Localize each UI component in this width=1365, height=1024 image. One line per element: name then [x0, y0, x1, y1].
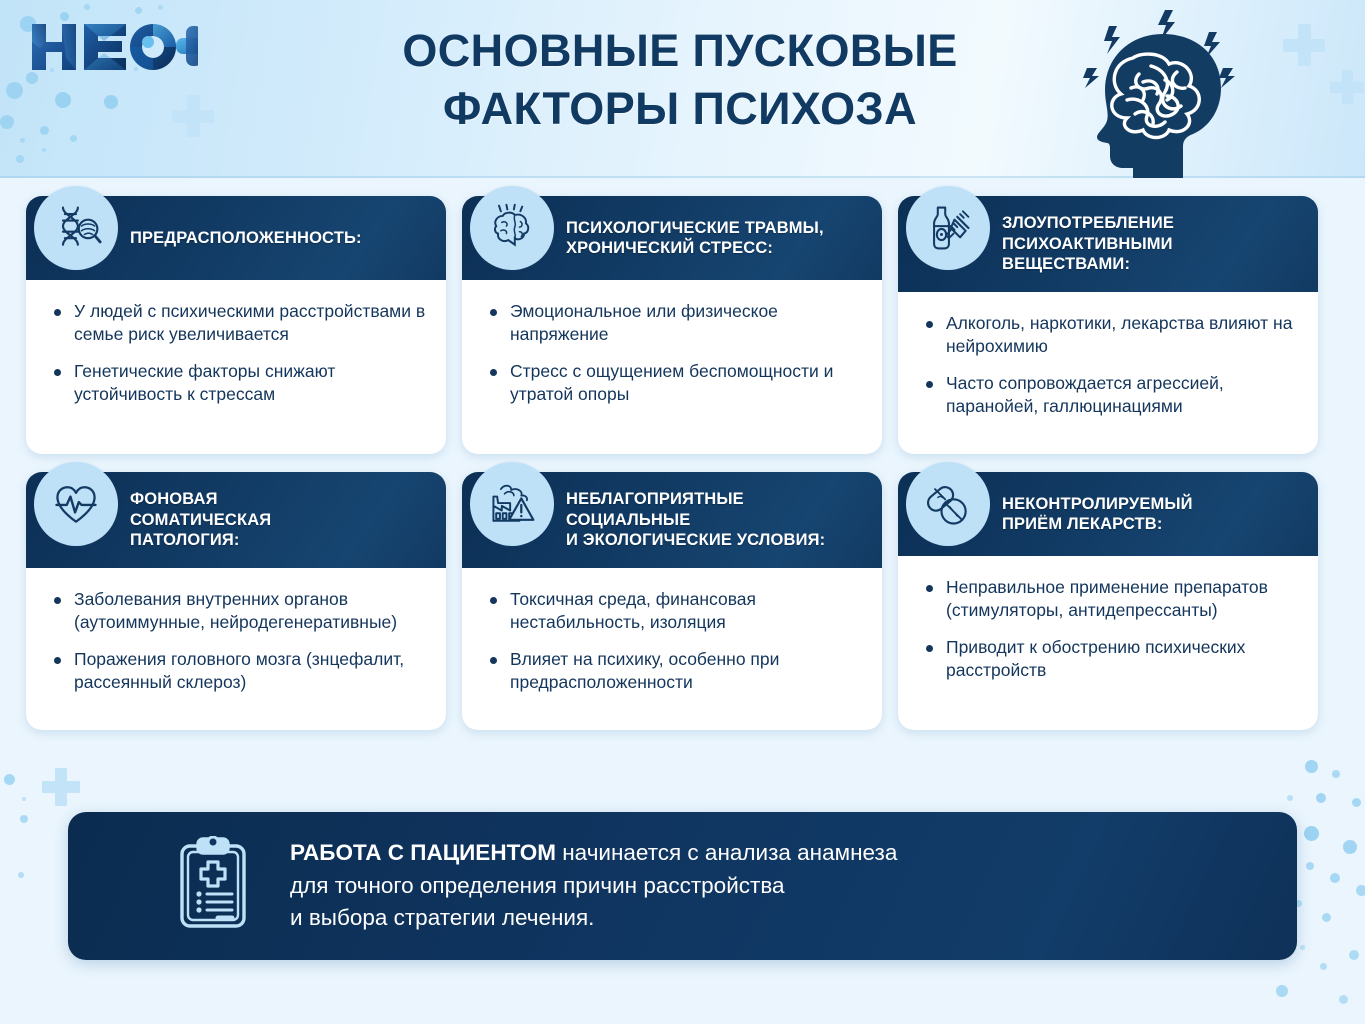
decor-dot: [1356, 885, 1365, 896]
card-body: Токсичная среда, финансовая нестабильнос…: [462, 568, 882, 708]
decor-dot: [4, 774, 15, 785]
list-item: Влияет на психику, особенно при предрасп…: [484, 648, 862, 695]
summary-strong: РАБОТА С ПАЦИЕНТОМ: [290, 840, 556, 865]
decor-dot: [42, 148, 46, 152]
decor-dot: [135, 7, 142, 14]
decor-dot: [1349, 950, 1359, 960]
card-title: ПРЕДРАСПОЛОЖЕННОСТЬ:: [130, 228, 362, 248]
decor-dot: [22, 797, 26, 801]
decor-dot: [1352, 798, 1361, 807]
heart-pulse-icon: [34, 462, 118, 546]
card-uncontrolled-medication[interactable]: НЕКОНТРОЛИРУЕМЫЙ ПРИЁМ ЛЕКАРСТВ: Неправи…: [898, 472, 1318, 730]
card-title: ПСИХОЛОГИЧЕСКИЕ ТРАВМЫ, ХРОНИЧЕСКИЙ СТРЕ…: [566, 218, 824, 259]
list-item: Часто сопровождается агрессией, паранойе…: [920, 372, 1298, 419]
decor-dot: [1306, 862, 1314, 870]
decor-dot: [1330, 873, 1340, 883]
list-item: У людей с психическими расстройствами в …: [48, 300, 426, 347]
card-title: НЕБЛАГОПРИЯТНЫЕ СОЦИАЛЬНЫЕ И ЭКОЛОГИЧЕСК…: [566, 489, 825, 550]
stressed-brain-icon: [470, 186, 554, 270]
list-item: Алкоголь, наркотики, лекарства влияют на…: [920, 312, 1298, 359]
list-item: Эмоциональное или физическое напряжение: [484, 300, 862, 347]
decor-dot: [1332, 770, 1340, 778]
decor-cross-icon: [1330, 70, 1364, 104]
card-title: ЗЛОУПОТРЕБЛЕНИЕ ПСИХОАКТИВНЫМИ ВЕЩЕСТВАМ…: [1002, 213, 1174, 274]
card-header: ЗЛОУПОТРЕБЛЕНИЕ ПСИХОАКТИВНЫМИ ВЕЩЕСТВАМ…: [898, 196, 1318, 292]
decor-dot: [1305, 760, 1318, 773]
card-title: НЕКОНТРОЛИРУЕМЫЙ ПРИЁМ ЛЕКАРСТВ:: [1002, 494, 1193, 535]
list-item: Генетические факторы снижают устойчивост…: [48, 360, 426, 407]
bullet-list: Эмоциональное или физическое напряжение …: [484, 300, 862, 406]
decor-dot: [1304, 826, 1319, 841]
card-social-ecological[interactable]: НЕБЛАГОПРИЯТНЫЕ СОЦИАЛЬНЫЕ И ЭКОЛОГИЧЕСК…: [462, 472, 882, 730]
decor-cross-icon: [1283, 24, 1325, 66]
decor-dot: [1300, 945, 1305, 950]
decor-dot: [1287, 795, 1293, 801]
card-header: ПСИХОЛОГИЧЕСКИЕ ТРАВМЫ, ХРОНИЧЕСКИЙ СТРЕ…: [462, 196, 882, 280]
card-predisposition[interactable]: ПРЕДРАСПОЛОЖЕННОСТЬ: У людей с психическ…: [26, 196, 446, 454]
clipboard-medical-icon: [174, 836, 252, 937]
decor-dot: [1320, 963, 1327, 970]
list-item: Приводит к обострению психических расстр…: [920, 636, 1298, 683]
decor-dot: [70, 135, 77, 142]
decor-dot: [104, 95, 118, 109]
card-body: Заболевания внутренних органов (аутоимму…: [26, 568, 446, 708]
card-body: У людей с психическими расстройствами в …: [26, 280, 446, 420]
bottle-syringe-icon: [906, 186, 990, 270]
bullet-list: Алкоголь, наркотики, лекарства влияют на…: [920, 312, 1298, 418]
page-title-line-2: ФАКТОРЫ ПСИХОЗА: [330, 80, 1030, 138]
list-item: Поражения головного мозга (знцефалит, ра…: [48, 648, 426, 695]
decor-dot: [1276, 985, 1288, 997]
list-item: Заболевания внутренних органов (аутоимму…: [48, 588, 426, 635]
card-body: Эмоциональное или физическое напряжение …: [462, 280, 882, 420]
list-item: Неправильное применение препаратов (стим…: [920, 576, 1298, 623]
card-header: ФОНОВАЯ СОМАТИЧЕСКАЯ ПАТОЛОГИЯ:: [26, 472, 446, 568]
infographic-page: ОСНОВНЫЕ ПУСКОВЫЕ ФАКТОРЫ ПСИХОЗА: [0, 0, 1365, 1024]
decor-dot: [1339, 995, 1348, 1004]
decor-dot: [18, 872, 24, 878]
bullet-list: У людей с психическими расстройствами в …: [48, 300, 426, 406]
card-header: НЕБЛАГОПРИЯТНЫЕ СОЦИАЛЬНЫЕ И ЭКОЛОГИЧЕСК…: [462, 472, 882, 568]
brand-logo[interactable]: [28, 18, 198, 76]
decor-dot: [1316, 793, 1326, 803]
card-psychological-trauma[interactable]: ПСИХОЛОГИЧЕСКИЕ ТРАВМЫ, ХРОНИЧЕСКИЙ СТРЕ…: [462, 196, 882, 454]
bullet-list: Токсичная среда, финансовая нестабильнос…: [484, 588, 862, 694]
summary-line-1-rest: начинается с анализа анамнеза: [556, 840, 897, 865]
page-header: ОСНОВНЫЕ ПУСКОВЫЕ ФАКТОРЫ ПСИХОЗА: [0, 0, 1365, 178]
decor-dot: [158, 5, 163, 10]
decor-dot: [1343, 840, 1357, 854]
card-header: НЕКОНТРОЛИРУЕМЫЙ ПРИЁМ ЛЕКАРСТВ:: [898, 472, 1318, 556]
decor-dot: [6, 82, 23, 99]
decor-dot: [84, 4, 90, 10]
card-body: Алкоголь, наркотики, лекарства влияют на…: [898, 292, 1318, 432]
list-item: Токсичная среда, финансовая нестабильнос…: [484, 588, 862, 635]
decor-dot: [40, 126, 49, 135]
summary-banner: РАБОТА С ПАЦИЕНТОМ начинается с анализа …: [68, 812, 1297, 960]
factor-cards-grid: ПРЕДРАСПОЛОЖЕННОСТЬ: У людей с психическ…: [26, 196, 1339, 730]
dna-magnifier-icon: [34, 186, 118, 270]
page-title: ОСНОВНЫЕ ПУСКОВЫЕ ФАКТОРЫ ПСИХОЗА: [330, 22, 1030, 137]
decor-dot: [0, 115, 14, 129]
pills-icon: [906, 462, 990, 546]
summary-text: РАБОТА С ПАЦИЕНТОМ начинается с анализа …: [290, 837, 897, 936]
card-substance-abuse[interactable]: ЗЛОУПОТРЕБЛЕНИЕ ПСИХОАКТИВНЫМИ ВЕЩЕСТВАМ…: [898, 196, 1318, 454]
factory-warning-icon: [470, 462, 554, 546]
decor-cross-icon: [42, 768, 80, 806]
summary-line-3: и выбора стратегии лечения.: [290, 902, 897, 935]
decor-dot: [16, 155, 24, 163]
card-somatic-pathology[interactable]: ФОНОВАЯ СОМАТИЧЕСКАЯ ПАТОЛОГИЯ: Заболева…: [26, 472, 446, 730]
decor-dot: [20, 138, 25, 143]
head-tangled-brain-icon: [1047, 0, 1277, 178]
decor-dot: [55, 92, 71, 108]
page-title-line-1: ОСНОВНЫЕ ПУСКОВЫЕ: [402, 25, 957, 76]
summary-line-2: для точного определения причин расстройс…: [290, 870, 897, 903]
decor-dot: [20, 815, 28, 823]
summary-line-1: РАБОТА С ПАЦИЕНТОМ начинается с анализа …: [290, 837, 897, 870]
list-item: Стресс с ощущением беспомощности и утрат…: [484, 360, 862, 407]
card-body: Неправильное применение препаратов (стим…: [898, 556, 1318, 696]
decor-cross-icon: [172, 95, 214, 137]
bullet-list: Неправильное применение препаратов (стим…: [920, 576, 1298, 682]
card-title: ФОНОВАЯ СОМАТИЧЕСКАЯ ПАТОЛОГИЯ:: [130, 489, 271, 550]
bullet-list: Заболевания внутренних органов (аутоимму…: [48, 588, 426, 694]
card-header: ПРЕДРАСПОЛОЖЕННОСТЬ:: [26, 196, 446, 280]
decor-dot: [1322, 913, 1331, 922]
